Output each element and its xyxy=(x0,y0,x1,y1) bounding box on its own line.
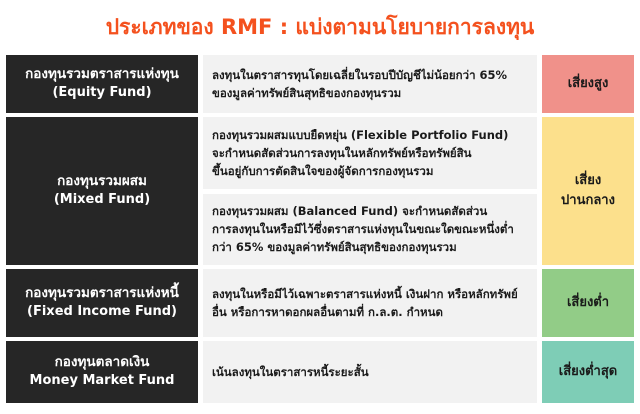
fund-name-en: (Fixed Income Fund) xyxy=(27,303,177,322)
description-line: กองทุนรวมผสม (Balanced Fund) จะกำหนดสัดส… xyxy=(212,202,528,220)
fund-name-th: กองทุนตลาดเงิน xyxy=(55,353,150,373)
risk-badge-label: เสี่ยงต่ำสุด xyxy=(559,362,617,382)
fund-description-cell: เน้นลงทุนในตราสารหนี้ระยะสั้น xyxy=(203,341,537,403)
fund-name-en: Money Market Fund xyxy=(30,372,175,391)
fund-description-column-money-market: เน้นลงทุนในตราสารหนี้ระยะสั้น xyxy=(203,341,537,403)
fund-description-column-equity: ลงทุนในตราสารทุนโดยเฉลี่ยในรอบปีบัญชีไม่… xyxy=(203,55,537,113)
fund-description-cell-balanced: กองทุนรวมผสม (Balanced Fund) จะกำหนดสัดส… xyxy=(203,194,537,266)
fund-name-th: กองทุนรวมตราสารแห่งหนี้ xyxy=(25,284,179,304)
risk-badge-equity: เสี่ยงสูง xyxy=(542,55,634,113)
fund-name-th: กองทุนรวมผสม xyxy=(57,172,147,192)
fund-name-en: (Equity Fund) xyxy=(52,84,151,103)
description-line: กว่า 65% ของมูลค่าทรัพย์สินสุทธิของกองทุ… xyxy=(212,238,528,256)
page-title-bar: ประเภทของ RMF : แบ่งตามนโยบายการลงทุน xyxy=(0,0,640,55)
description-line: จะกำหนดสัดส่วนการลงทุนในหลักทรัพย์หรือทร… xyxy=(212,144,528,162)
description-line: ของมูลค่าทรัพย์สินสุทธิของกองทุนรวม xyxy=(212,84,528,102)
description-line: ขึ้นอยู่กับการตัดสินใจของผู้จัดการกองทุน… xyxy=(212,162,528,180)
fund-description-cell-flexible: กองทุนรวมผสมแบบยืดหยุ่น (Flexible Portfo… xyxy=(203,117,537,189)
infographic-page: ประเภทของ RMF : แบ่งตามนโยบายการลงทุน กอ… xyxy=(0,0,640,414)
description-line: เน้นลงทุนในตราสารหนี้ระยะสั้น xyxy=(212,363,528,381)
fund-description-cell: ลงทุนในหรือมีไว้เฉพาะตราสารแห่งหนี้ เงิน… xyxy=(203,269,537,337)
fund-name-en: (Mixed Fund) xyxy=(54,191,150,210)
description-line: กองทุนรวมผสมแบบยืดหยุ่น (Flexible Portfo… xyxy=(212,126,528,144)
table-row: กองทุนรวมตราสารแห่งหนี้ (Fixed Income Fu… xyxy=(6,269,634,337)
fund-name-cell-equity: กองทุนรวมตราสารแห่งทุน (Equity Fund) xyxy=(6,55,198,113)
description-line: การลงทุนในหรือมีไว้ซึ่งตราสารแห่งทุนในขณ… xyxy=(212,220,528,238)
fund-name-cell-money-market: กองทุนตลาดเงิน Money Market Fund xyxy=(6,341,198,403)
risk-badge-label: เสี่ยงสูง xyxy=(568,74,609,94)
description-line: ลงทุนในตราสารทุนโดยเฉลี่ยในรอบปีบัญชีไม่… xyxy=(212,66,528,84)
risk-badge-fixed-income: เสี่ยงต่ำ xyxy=(542,269,634,337)
fund-name-cell-mixed: กองทุนรวมผสม (Mixed Fund) xyxy=(6,117,198,265)
fund-name-th: กองทุนรวมตราสารแห่งทุน xyxy=(25,65,179,85)
page-title: ประเภทของ RMF : แบ่งตามนโยบายการลงทุน xyxy=(106,16,535,39)
description-line: ลงทุนในหรือมีไว้เฉพาะตราสารแห่งหนี้ เงิน… xyxy=(212,285,528,303)
risk-badge-money-market: เสี่ยงต่ำสุด xyxy=(542,341,634,403)
description-line: อื่น หรือการหาดอกผลอื่นตามที่ ก.ล.ต. กำห… xyxy=(212,303,528,321)
risk-badge-label: เสี่ยง xyxy=(575,171,601,191)
fund-description-column-fixed-income: ลงทุนในหรือมีไว้เฉพาะตราสารแห่งหนี้ เงิน… xyxy=(203,269,537,337)
table-row: กองทุนรวมตราสารแห่งทุน (Equity Fund) ลงท… xyxy=(6,55,634,113)
risk-badge-label-second: ปานกลาง xyxy=(561,191,615,211)
risk-badge-mixed: เสี่ยง ปานกลาง xyxy=(542,117,634,265)
rmf-types-table: กองทุนรวมตราสารแห่งทุน (Equity Fund) ลงท… xyxy=(0,55,640,414)
fund-description-column-mixed: กองทุนรวมผสมแบบยืดหยุ่น (Flexible Portfo… xyxy=(203,117,537,265)
table-row: กองทุนรวมผสม (Mixed Fund) กองทุนรวมผสมแบ… xyxy=(6,117,634,265)
fund-name-cell-fixed-income: กองทุนรวมตราสารแห่งหนี้ (Fixed Income Fu… xyxy=(6,269,198,337)
table-row: กองทุนตลาดเงิน Money Market Fund เน้นลงท… xyxy=(6,341,634,403)
fund-description-cell: ลงทุนในตราสารทุนโดยเฉลี่ยในรอบปีบัญชีไม่… xyxy=(203,55,537,113)
risk-badge-label: เสี่ยงต่ำ xyxy=(567,293,609,313)
